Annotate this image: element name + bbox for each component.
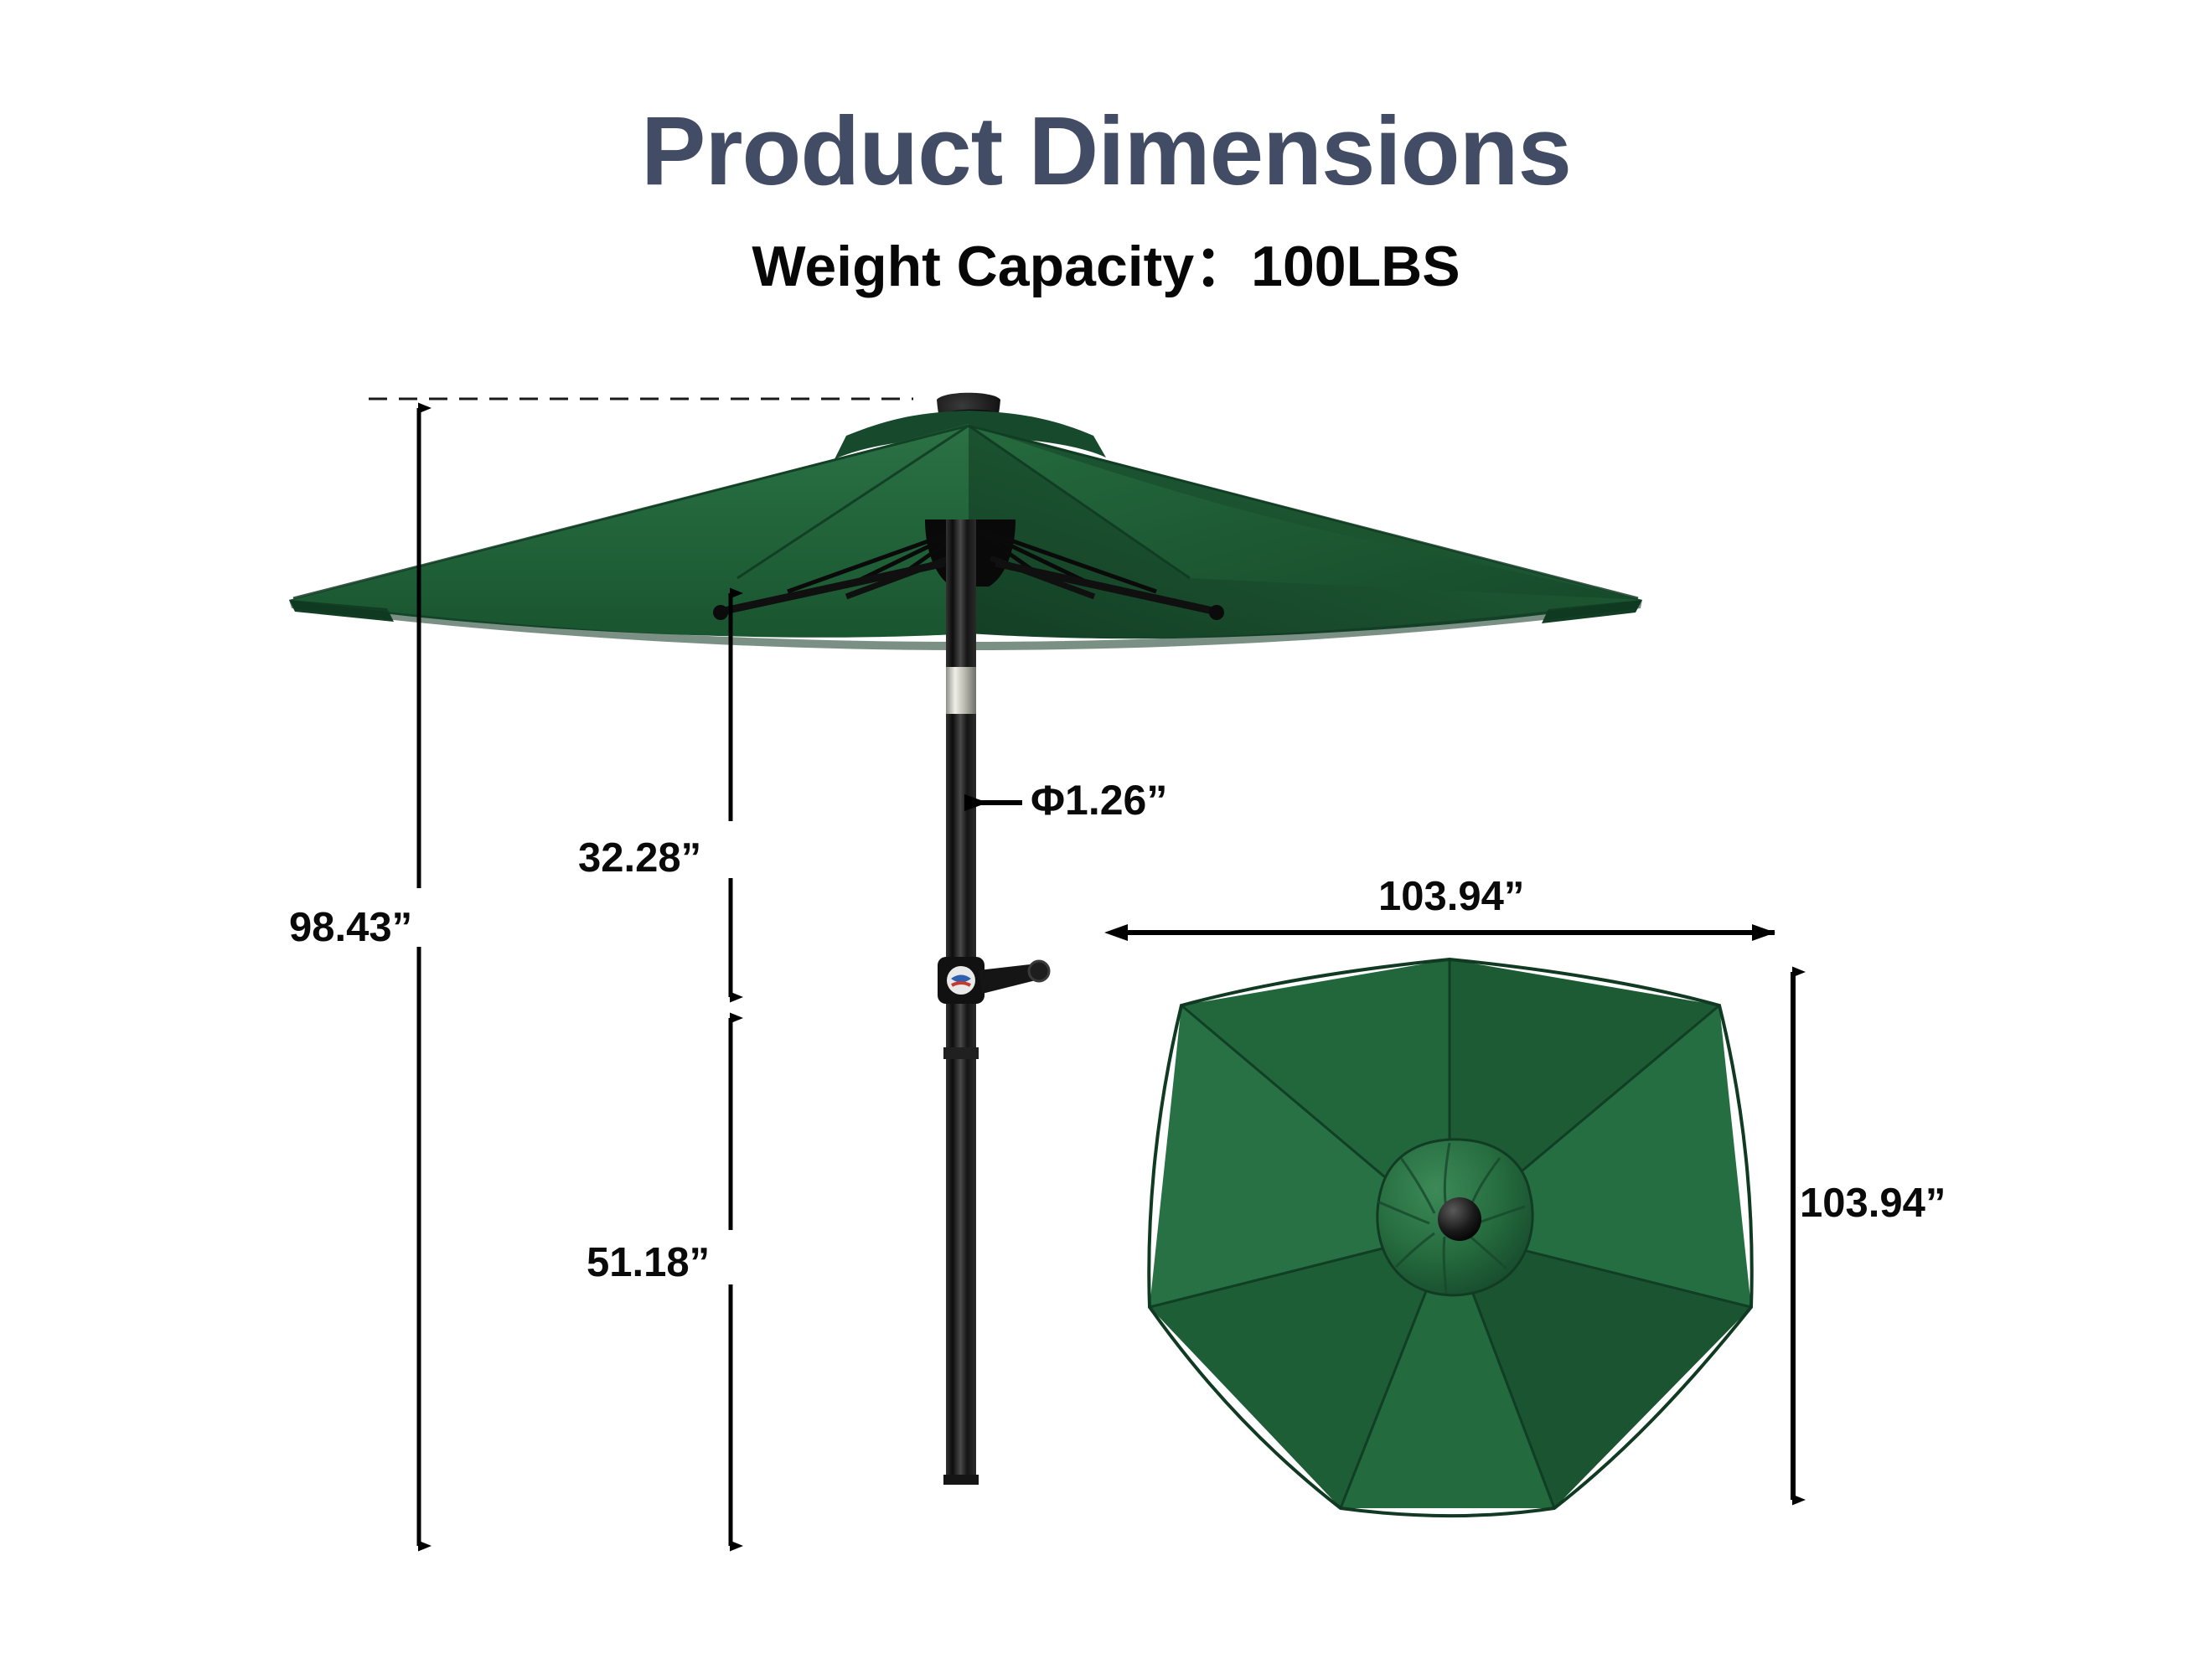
top-view-umbrella	[1127, 933, 1793, 1516]
product-dimensions-diagram: Product Dimensions Weight Capacity：100LB…	[0, 0, 2212, 1659]
finial-ball-top-view	[1438, 1197, 1481, 1241]
crank-handle	[938, 957, 1049, 1004]
diagram-artwork	[0, 0, 2212, 1659]
canopy-panel-front-left	[289, 424, 969, 638]
canopy-center-rosette	[1377, 1140, 1532, 1295]
